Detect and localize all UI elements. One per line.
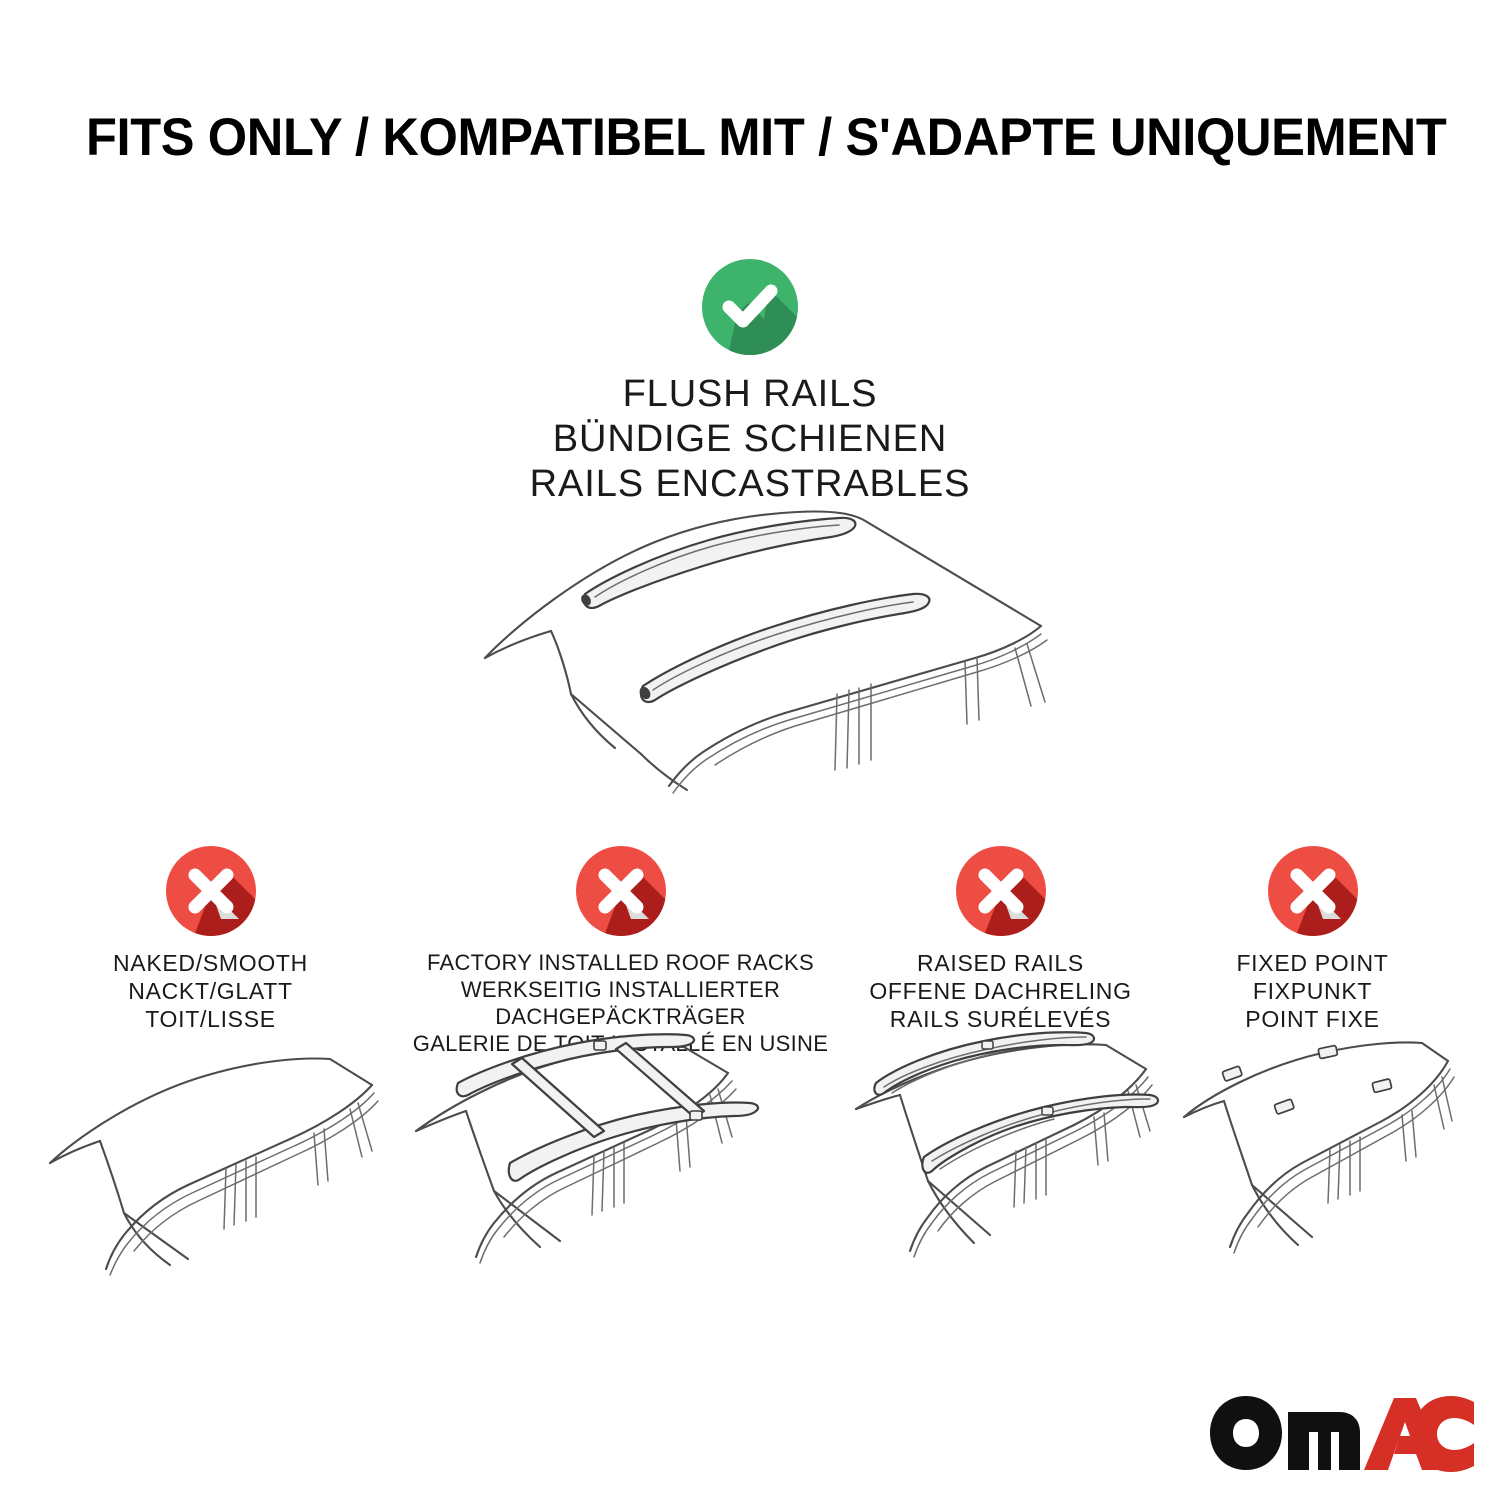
incompatible-label-fr: TOIT/LISSE — [38, 1005, 383, 1033]
cross-circle-icon — [165, 845, 257, 937]
check-circle-icon — [701, 258, 799, 356]
incompatible-label-en: FIXED POINT — [1170, 949, 1455, 977]
incompatible-label-en: NAKED/SMOOTH — [38, 949, 383, 977]
incompatible-label-de: OFFENE DACHRELING — [838, 977, 1163, 1005]
incompatible-item-factory-roof-racks: FACTORY INSTALLED ROOF RACKS WERKSEITIG … — [398, 845, 843, 1057]
compatible-label-en: FLUSH RAILS — [0, 372, 1500, 417]
incompatible-labels: NAKED/SMOOTH NACKT/GLATT TOIT/LISSE — [38, 949, 383, 1033]
page-title: FITS ONLY / KOMPATIBEL MIT / S'ADAPTE UN… — [86, 107, 1366, 169]
compatible-labels: FLUSH RAILS BÜNDIGE SCHIENEN RAILS ENCAS… — [0, 372, 1500, 507]
incompatible-label-fr: RAILS SURÉLEVÉS — [838, 1005, 1163, 1033]
incompatible-label-de-2: DACHGEPÄCKTRÄGER — [398, 1003, 843, 1030]
incompatible-item-naked-smooth: NAKED/SMOOTH NACKT/GLATT TOIT/LISSE — [38, 845, 383, 1033]
incompatible-label-de-1: WERKSEITIG INSTALLIERTER — [398, 976, 843, 1003]
incompatible-labels: FIXED POINT FIXPUNKT POINT FIXE — [1170, 949, 1455, 1033]
incompatible-labels: RAISED RAILS OFFENE DACHRELING RAILS SUR… — [838, 949, 1163, 1033]
incompatible-label-de: NACKT/GLATT — [38, 977, 383, 1005]
car-roof-fixed-point-illustration — [1170, 1035, 1455, 1265]
incompatible-label-fr: POINT FIXE — [1170, 1005, 1455, 1033]
incompatible-item-fixed-point: FIXED POINT FIXPUNKT POINT FIXE — [1170, 845, 1455, 1033]
cross-circle-icon — [575, 845, 667, 937]
omac-logo — [1208, 1392, 1476, 1476]
incompatible-label-en: FACTORY INSTALLED ROOF RACKS — [398, 949, 843, 976]
incompatible-label-en: RAISED RAILS — [838, 949, 1163, 977]
car-roof-raised-rails-illustration — [838, 1035, 1163, 1265]
incompatible-label-de: FIXPUNKT — [1170, 977, 1455, 1005]
compatible-label-de: BÜNDIGE SCHIENEN — [0, 417, 1500, 462]
car-roof-factory-roof-racks-illustration — [398, 1035, 843, 1265]
compatible-section: FLUSH RAILS BÜNDIGE SCHIENEN RAILS ENCAS… — [0, 258, 1500, 507]
cross-circle-icon — [955, 845, 1047, 937]
car-roof-naked-smooth-illustration — [38, 1045, 383, 1275]
incompatible-section: NAKED/SMOOTH NACKT/GLATT TOIT/LISSE — [0, 845, 1500, 1295]
incompatible-item-raised-rails: RAISED RAILS OFFENE DACHRELING RAILS SUR… — [838, 845, 1163, 1033]
car-roof-flush-rails-illustration — [455, 498, 1065, 798]
cross-circle-icon — [1267, 845, 1359, 937]
